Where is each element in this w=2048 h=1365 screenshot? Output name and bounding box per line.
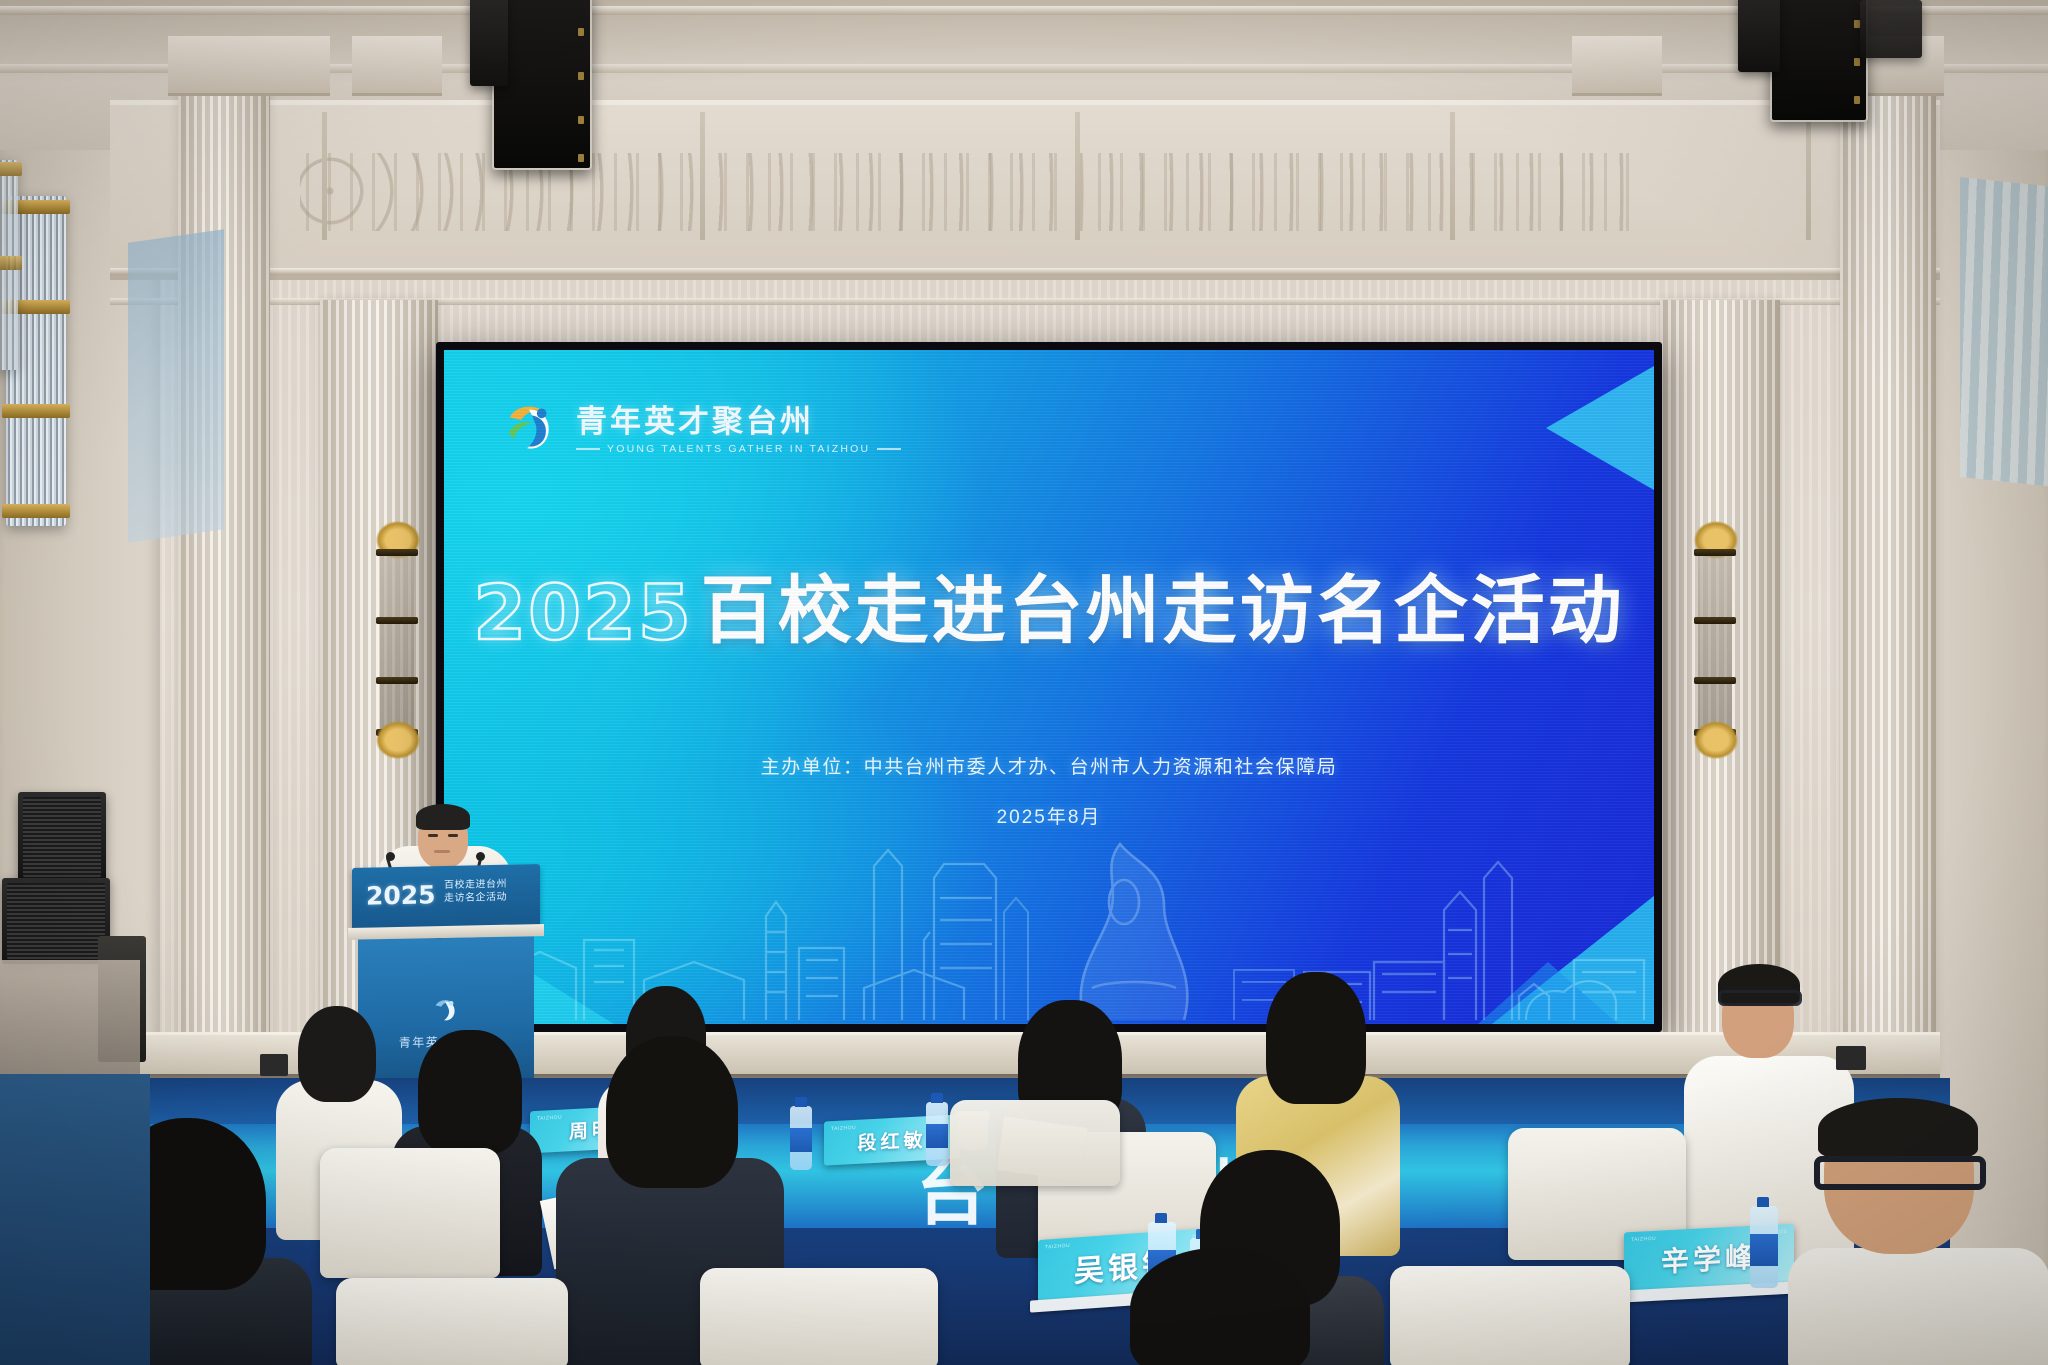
glass-panel-left <box>128 229 224 542</box>
stage-monitor-left <box>260 1054 288 1076</box>
speaker-eye-right <box>448 834 458 837</box>
podium-logo-icon <box>431 994 461 1025</box>
title-chinese: 百校走进台州走访名企活动 <box>701 574 1625 648</box>
podium-year: 2025 <box>366 880 436 910</box>
pilaster-left <box>178 60 270 1080</box>
ornamental-frieze <box>110 100 1940 280</box>
logo-dash-left <box>576 448 600 450</box>
glass-panel-right <box>1960 177 2048 487</box>
ceiling-speaker-array-right <box>1770 0 1868 122</box>
floor-riser-left <box>0 960 140 1080</box>
gold-wall-sconce-left <box>372 525 424 765</box>
chair-front-2 <box>700 1268 938 1365</box>
podium-title: 百校走进台州 走访名企活动 <box>444 878 507 905</box>
logo-dash-right <box>877 448 901 450</box>
ceiling-speaker-box-far-right <box>1860 0 1922 58</box>
frieze-divider <box>1450 112 1455 240</box>
podium-top-panel: 2025 百校走进台州 走访名企活动 <box>352 864 540 930</box>
title-year: 2025 <box>473 578 693 648</box>
conference-hall-photo: 青年英才聚台州 YOUNG TALENTS GATHER IN TAIZHOU … <box>0 0 2048 1365</box>
organizer-line: 主办单位：中共台州市委人才办、台州市人力资源和社会保障局 <box>444 752 1654 779</box>
pilaster-capital-2 <box>240 36 330 96</box>
chair-mid-1 <box>950 1100 1120 1186</box>
screen-title: 2025 百校走进台州走访名企活动 <box>444 574 1654 648</box>
eyeglasses <box>1814 1156 1986 1190</box>
led-screen: 青年英才聚台州 YOUNG TALENTS GATHER IN TAIZHOU … <box>444 350 1654 1024</box>
water-bottle <box>926 1102 948 1166</box>
pilaster-capital-4 <box>1572 36 1662 96</box>
cornice-rail <box>110 268 1940 275</box>
microphone-right-head <box>476 852 485 861</box>
frieze-divider <box>700 112 705 240</box>
chair-front-3 <box>1390 1266 1630 1365</box>
logo-english-text: YOUNG TALENTS GATHER IN TAIZHOU <box>607 443 870 455</box>
audience-person-front-5 <box>1090 1248 1350 1365</box>
ceiling-speaker-box-left <box>470 0 508 86</box>
equipment-rack-unit <box>2 878 110 964</box>
pilaster-right <box>1840 60 1936 1080</box>
chair-back-3 <box>320 1148 500 1278</box>
pilaster-capital-3 <box>352 36 442 96</box>
nameplate-name: 辛学峰 <box>1661 1235 1757 1280</box>
equipment-speaker-box <box>18 792 106 882</box>
chair-front-1 <box>336 1278 568 1365</box>
audience-person-front-4 <box>1788 1098 2048 1365</box>
gold-wall-sconce-right <box>1690 525 1742 765</box>
speaker-hair <box>416 804 470 830</box>
decor-triangle-top-right <box>1546 366 1654 490</box>
microphone-left-head <box>386 852 395 861</box>
eyeglasses <box>1718 990 1802 1006</box>
frieze-divider <box>1075 112 1080 240</box>
talent-swoosh-icon <box>500 394 562 456</box>
speaker-eye-left <box>428 834 438 837</box>
frieze-divider <box>322 112 327 240</box>
logo-chinese-text: 青年英才聚台州 <box>576 396 901 441</box>
ceiling-speaker-box-right <box>1738 0 1780 72</box>
nameplate-name: 段红敏 <box>857 1125 926 1156</box>
water-bottle <box>1750 1206 1778 1288</box>
date-line: 2025年8月 <box>444 802 1654 829</box>
speaker-mouth <box>434 850 450 853</box>
water-bottle <box>790 1106 812 1170</box>
pendant-light-far-left <box>0 160 18 370</box>
frieze-divider <box>1806 112 1811 240</box>
stage-monitor-right <box>1836 1046 1866 1070</box>
side-panel-left-lower <box>0 1074 150 1365</box>
event-logo: 青年英才聚台州 YOUNG TALENTS GATHER IN TAIZHOU <box>500 394 901 456</box>
led-screen-bezel: 青年英才聚台州 YOUNG TALENTS GATHER IN TAIZHOU … <box>436 342 1662 1032</box>
